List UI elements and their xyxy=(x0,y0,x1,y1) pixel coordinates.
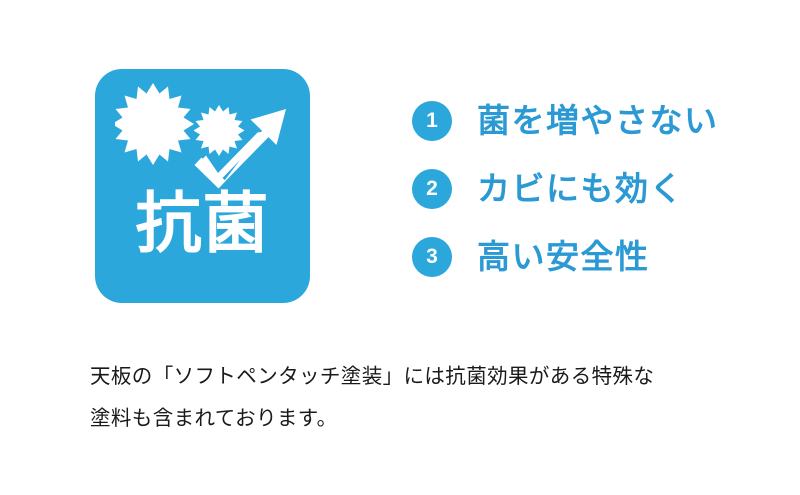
caption-line-1: 天板の「ソフトペンタッチ塗装」には抗菌効果がある特殊な xyxy=(90,355,750,397)
caption-paragraph: 天板の「ソフトペンタッチ塗装」には抗菌効果がある特殊な 塗料も含まれております。 xyxy=(90,355,750,439)
badge-label: 抗菌 xyxy=(95,191,310,257)
feature-number-badge-2: 2 xyxy=(412,169,452,209)
germ-large-icon xyxy=(115,83,194,165)
badge-graphic xyxy=(115,83,293,193)
caption-line-2: 塗料も含まれております。 xyxy=(90,397,750,439)
feature-item-1: 1 菌を増やさない xyxy=(412,99,752,142)
feature-label-3: 高い安全性 xyxy=(477,240,650,273)
feature-item-3: 3 高い安全性 xyxy=(412,235,752,278)
antibacterial-badge: 抗菌 xyxy=(95,69,310,303)
feature-number-badge-3: 3 xyxy=(412,237,452,277)
feature-list: 1 菌を増やさない 2 カビにも効く 3 高い安全性 xyxy=(412,99,752,278)
promo-graphic-canvas: 抗菌 1 菌を増やさない 2 カビにも効く 3 高い安全性 天板の「ソフトペンタ… xyxy=(0,0,800,495)
feature-label-1: 菌を増やさない xyxy=(477,104,719,137)
germ-small-icon xyxy=(194,105,245,156)
feature-label-2: カビにも効く xyxy=(477,172,684,205)
feature-number-badge-1: 1 xyxy=(412,101,452,141)
feature-item-2: 2 カビにも効く xyxy=(412,167,752,210)
